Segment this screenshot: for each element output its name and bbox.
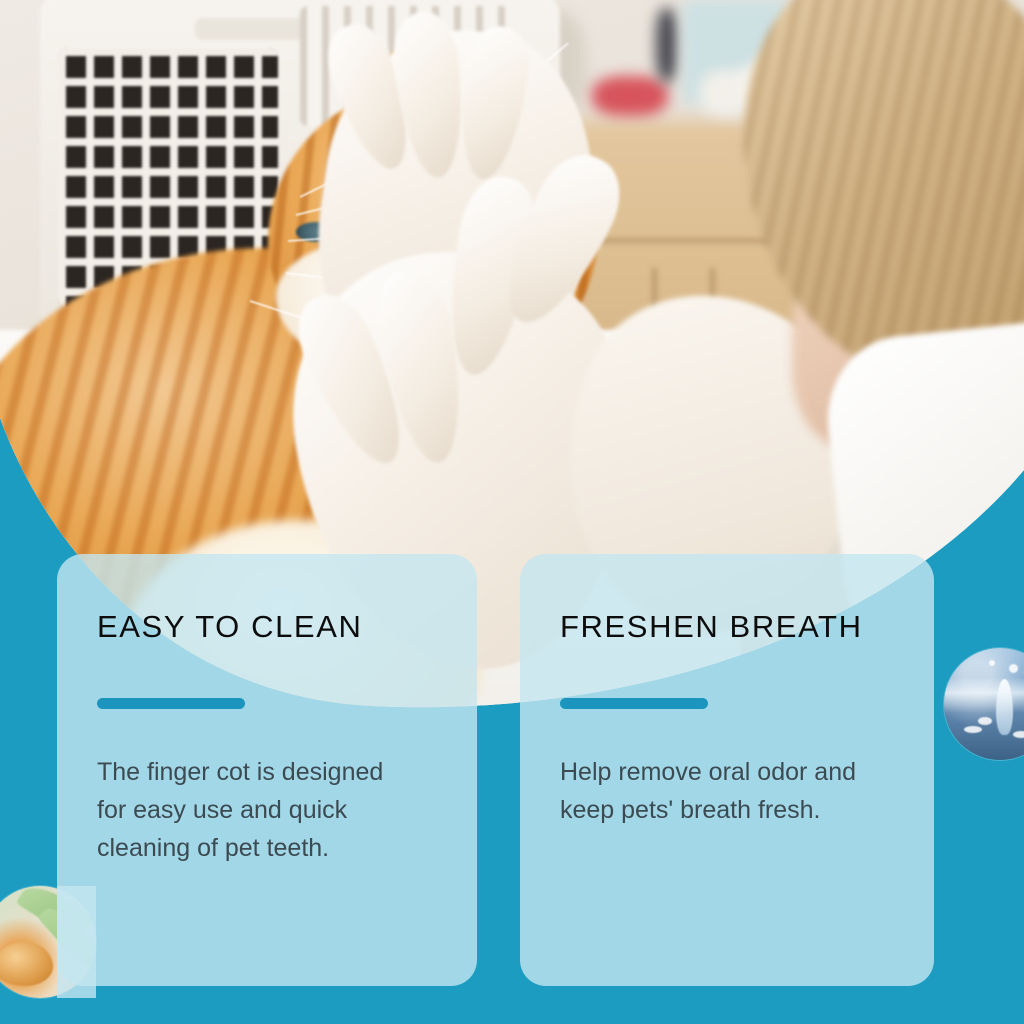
feature-card-title: FRESHEN BREATH (560, 610, 894, 644)
water-droplet (989, 660, 995, 666)
water-droplet (964, 726, 982, 733)
feature-card-body: Help remove oral odor and keep pets' bre… (560, 753, 878, 829)
root-bulb-shape (0, 942, 53, 986)
shelf-object-red (592, 76, 668, 116)
feature-card-accent-bar (560, 698, 708, 709)
water-splash-circle-icon (944, 648, 1024, 760)
feature-card-title: EASY TO CLEAN (97, 610, 437, 644)
product-feature-poster: EASY TO CLEAN The finger cot is designed… (0, 0, 1024, 1024)
pet-carrier-handle (195, 18, 305, 40)
water-splash-column (996, 679, 1013, 735)
feature-card-freshen-breath[interactable]: FRESHEN BREATH Help remove oral odor and… (520, 554, 934, 986)
shelf-object-bottle (656, 8, 678, 82)
water-droplet (978, 717, 992, 725)
feature-card-easy-to-clean[interactable]: EASY TO CLEAN The finger cot is designed… (57, 554, 477, 986)
water-droplet (1009, 664, 1018, 673)
feature-card-body: The finger cot is designed for easy use … (97, 753, 415, 867)
feature-card-accent-bar (97, 698, 245, 709)
water-droplet (1013, 731, 1024, 738)
